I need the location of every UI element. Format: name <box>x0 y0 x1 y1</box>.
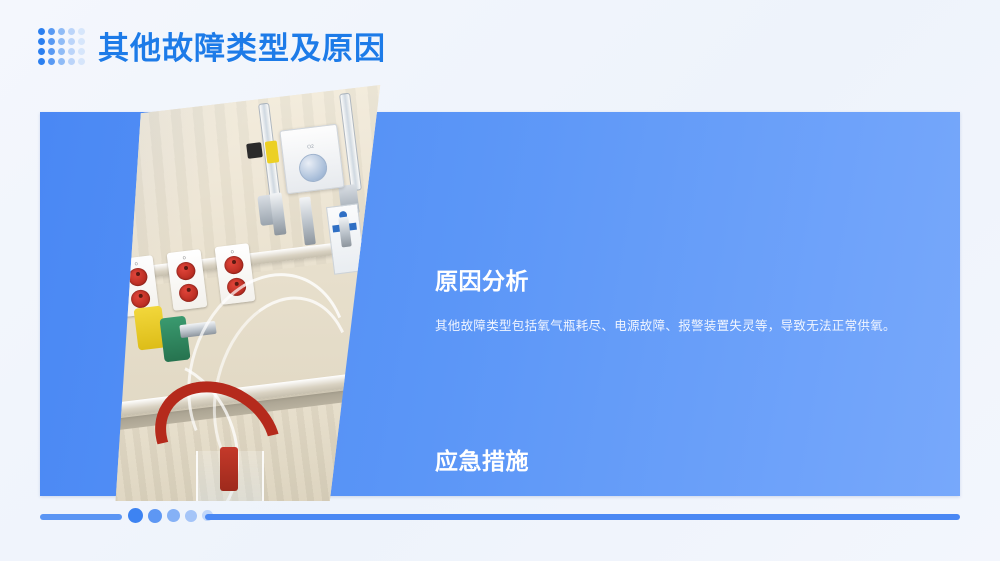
gas-outlet-plate: O <box>167 249 208 311</box>
dot-grid-icon <box>38 28 87 67</box>
outlet-port <box>178 283 199 303</box>
outlet-label: O <box>215 247 249 256</box>
section-body: 针对不同故障类型采取相应应急措施，如及时更换氧气瓶、检查电源线路、修复报警装置等… <box>435 493 927 496</box>
slide-root: 其他故障类型及原因 原因分析 其他故障类型包括氧气瓶耗尽、电源故障、报警装置失灵… <box>0 0 1000 561</box>
black-valve <box>246 142 263 159</box>
slide-header: 其他故障类型及原因 <box>0 0 1000 96</box>
section-heading: 原因分析 <box>435 267 935 295</box>
footer-dot <box>167 509 180 522</box>
outlet-port <box>130 289 151 309</box>
footer-decoration <box>0 506 1000 526</box>
footer-dot <box>148 509 162 523</box>
footer-bar-left <box>40 514 122 520</box>
text-column: 原因分析 其他故障类型包括氧气瓶耗尽、电源故障、报警装置失灵等，导致无法正常供氧… <box>435 267 935 496</box>
regulator-mark: O2 <box>307 144 314 151</box>
section-emergency-measures: 应急措施 针对不同故障类型采取相应应急措施，如及时更换氧气瓶、检查电源线路、修复… <box>435 447 935 496</box>
green-cylinder <box>159 316 190 363</box>
section-heading: 应急措施 <box>435 447 935 475</box>
gas-regulator: O2 <box>279 124 344 195</box>
beaker-insert <box>220 447 238 491</box>
footer-dot <box>185 510 197 522</box>
regulator-knob <box>297 152 328 183</box>
base-plate <box>61 500 114 501</box>
section-cause-analysis: 原因分析 其他故障类型包括氧气瓶耗尽、电源故障、报警装置失灵等，导致无法正常供氧… <box>435 267 935 339</box>
footer-dots <box>128 508 213 523</box>
yellow-tag <box>265 140 280 163</box>
section-body: 其他故障类型包括氧气瓶耗尽、电源故障、报警装置失灵等，导致无法正常供氧。 <box>435 313 927 339</box>
outlet-label: O <box>167 253 201 262</box>
footer-bar-right <box>205 514 960 520</box>
footer-dot <box>128 508 143 523</box>
glass-beaker <box>196 451 264 501</box>
outlet-port <box>223 255 244 275</box>
page-title: 其他故障类型及原因 <box>98 29 386 69</box>
outlet-port <box>175 261 196 281</box>
